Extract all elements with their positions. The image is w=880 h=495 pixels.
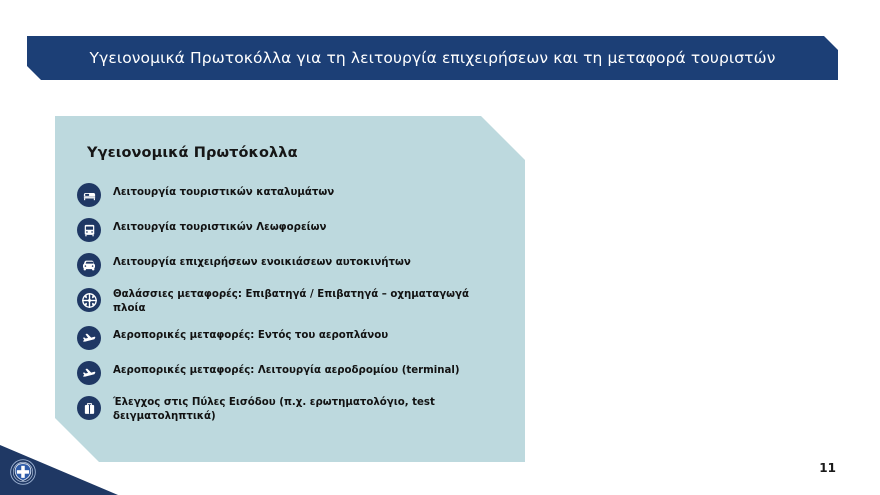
suitcase-icon <box>77 396 101 420</box>
page-number: 11 <box>819 461 836 475</box>
list-item-label: Έλεγχος στις Πύλες Εισόδου (π.χ. ερωτημα… <box>113 395 498 424</box>
page-title: Υγειονομικά Πρωτοκόλλα για τη λειτουργία… <box>76 49 790 67</box>
list-item-label: Λειτουργία τουριστικών καταλυμάτων <box>113 182 334 200</box>
list-item-label: Θαλάσσιες μεταφορές: Επιβατηγά / Επιβατη… <box>113 287 498 316</box>
panel-heading: Υγειονομικά Πρωτόκολλα <box>87 145 298 161</box>
airplane-icon <box>77 326 101 350</box>
car-icon <box>77 253 101 277</box>
airplane-icon <box>77 361 101 385</box>
list-item-label: Λειτουργία τουριστικών Λεωφορείων <box>113 217 326 235</box>
list-item: Θαλάσσιες μεταφορές: Επιβατηγά / Επιβατη… <box>77 287 517 316</box>
list-item: Αεροπορικές μεταφορές: Λειτουργία αεροδρ… <box>77 360 517 386</box>
list-item: Λειτουργία τουριστικών καταλυμάτων <box>77 182 517 208</box>
list-item-label: Λειτουργία επιχειρήσεων ενοικιάσεων αυτο… <box>113 252 411 270</box>
bus-icon <box>77 218 101 242</box>
slide: Υγειονομικά Πρωτοκόλλα για τη λειτουργία… <box>0 0 880 495</box>
bed-icon <box>77 183 101 207</box>
slide-title-banner: Υγειονομικά Πρωτοκόλλα για τη λειτουργία… <box>27 36 838 80</box>
ship-wheel-icon <box>77 288 101 312</box>
list-item: Έλεγχος στις Πύλες Εισόδου (π.χ. ερωτημα… <box>77 395 517 424</box>
list-item: Λειτουργία επιχειρήσεων ενοικιάσεων αυτο… <box>77 252 517 278</box>
list-item: Αεροπορικές μεταφορές: Εντός του αεροπλά… <box>77 325 517 351</box>
list-item-label: Αεροπορικές μεταφορές: Λειτουργία αεροδρ… <box>113 360 460 378</box>
hellenic-republic-emblem <box>10 459 36 485</box>
protocols-panel: Υγειονομικά Πρωτόκολλα Λειτουργία τουρισ… <box>55 116 525 462</box>
list-item-label: Αεροπορικές μεταφορές: Εντός του αεροπλά… <box>113 325 388 343</box>
list-item: Λειτουργία τουριστικών Λεωφορείων <box>77 217 517 243</box>
protocols-list: Λειτουργία τουριστικών καταλυμάτων Λειτο… <box>77 182 517 432</box>
